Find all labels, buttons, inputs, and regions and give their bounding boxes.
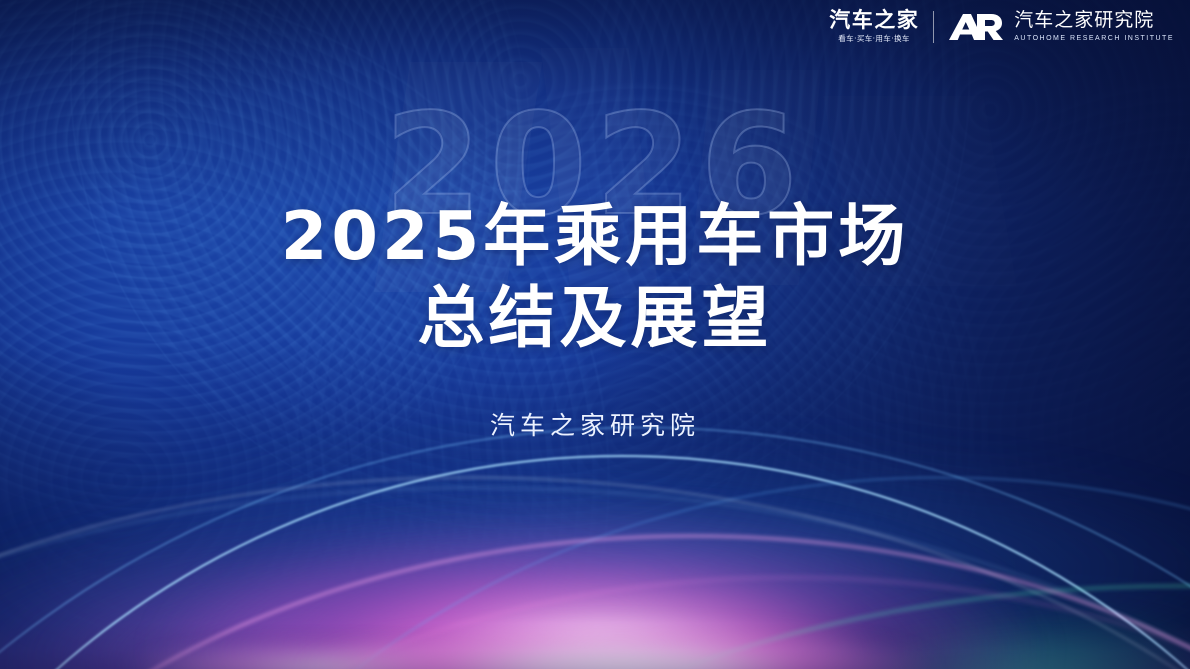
autohome-logo-tagline: 看车·买车·用车·换车	[838, 35, 909, 43]
research-institute-name: 汽车之家研究院	[1014, 11, 1174, 30]
bottom-fade	[0, 623, 1190, 669]
research-institute-name-en: AUTOHOME RESEARCH INSTITUTE	[1014, 35, 1174, 42]
header-logos: 汽车之家 看车·买车·用车·换车 汽车之家研究院 AUTOHOME RESEAR…	[829, 10, 1174, 43]
autohome-logo-name: 汽车之家	[829, 10, 919, 31]
title-slide: 2026 汽车之家 看车·买车·用车·换车 汽车之家研究院 AUTOHOME R…	[0, 0, 1190, 669]
autohome-logo[interactable]: 汽车之家 看车·买车·用车·换车	[829, 10, 919, 43]
ar-monogram-icon	[948, 12, 1004, 42]
title-line-2: 总结及展望	[0, 278, 1190, 360]
page-subtitle: 汽车之家研究院	[0, 406, 1190, 442]
logo-divider	[933, 11, 934, 43]
research-institute-text: 汽车之家研究院 AUTOHOME RESEARCH INSTITUTE	[1014, 11, 1174, 42]
page-title: 2025年乘用车市场 总结及展望	[0, 196, 1190, 359]
research-institute-logo[interactable]: 汽车之家研究院 AUTOHOME RESEARCH INSTITUTE	[948, 11, 1174, 42]
title-line-1: 2025年乘用车市场	[0, 196, 1190, 278]
